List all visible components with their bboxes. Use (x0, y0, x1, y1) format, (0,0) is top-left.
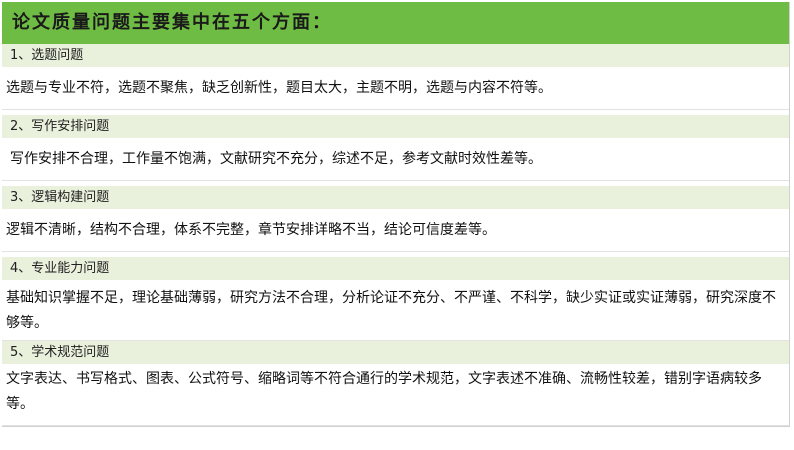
section-4: 4、专业能力问题 基础知识掌握不足，理论基础薄弱，研究方法不合理，分析论证不充分… (2, 257, 789, 341)
section-1-body: 选题与专业不符，选题不聚焦，缺乏创新性，题目太大，主题不明，选题与内容不符等。 (2, 68, 789, 110)
section-5: 5、学术规范问题 文字表达、书写格式、图表、公式符号、缩略词等不符合通行的学术规… (2, 341, 789, 426)
section-2: 2、写作安排问题 写作安排不合理，工作量不饱满，文献研究不充分，综述不足，参考文… (2, 115, 789, 181)
section-2-body: 写作安排不合理，工作量不饱满，文献研究不充分，综述不足，参考文献时效性差等。 (2, 139, 789, 181)
section-4-body: 基础知识掌握不足，理论基础薄弱，研究方法不合理，分析论证不充分、不严谨、不科学，… (2, 281, 789, 341)
page-title: 论文质量问题主要集中在五个方面： (2, 2, 789, 44)
section-4-header: 4、专业能力问题 (2, 257, 789, 281)
document-page: 论文质量问题主要集中在五个方面： 1、选题问题 选题与专业不符，选题不聚焦，缺乏… (0, 0, 794, 450)
section-3-header: 3、逻辑构建问题 (2, 186, 789, 210)
section-1: 1、选题问题 选题与专业不符，选题不聚焦，缺乏创新性，题目太大，主题不明，选题与… (2, 44, 789, 110)
section-3: 3、逻辑构建问题 逻辑不清晰，结构不合理，体系不完整，章节安排详略不当，结论可信… (2, 186, 789, 252)
section-2-header: 2、写作安排问题 (2, 115, 789, 139)
section-5-body: 文字表达、书写格式、图表、公式符号、缩略词等不符合通行的学术规范，文字表述不准确… (2, 365, 789, 426)
section-5-header: 5、学术规范问题 (2, 341, 789, 365)
content-card: 论文质量问题主要集中在五个方面： 1、选题问题 选题与专业不符，选题不聚焦，缺乏… (2, 2, 790, 427)
section-3-body: 逻辑不清晰，结构不合理，体系不完整，章节安排详略不当，结论可信度差等。 (2, 210, 789, 252)
section-1-header: 1、选题问题 (2, 44, 789, 68)
